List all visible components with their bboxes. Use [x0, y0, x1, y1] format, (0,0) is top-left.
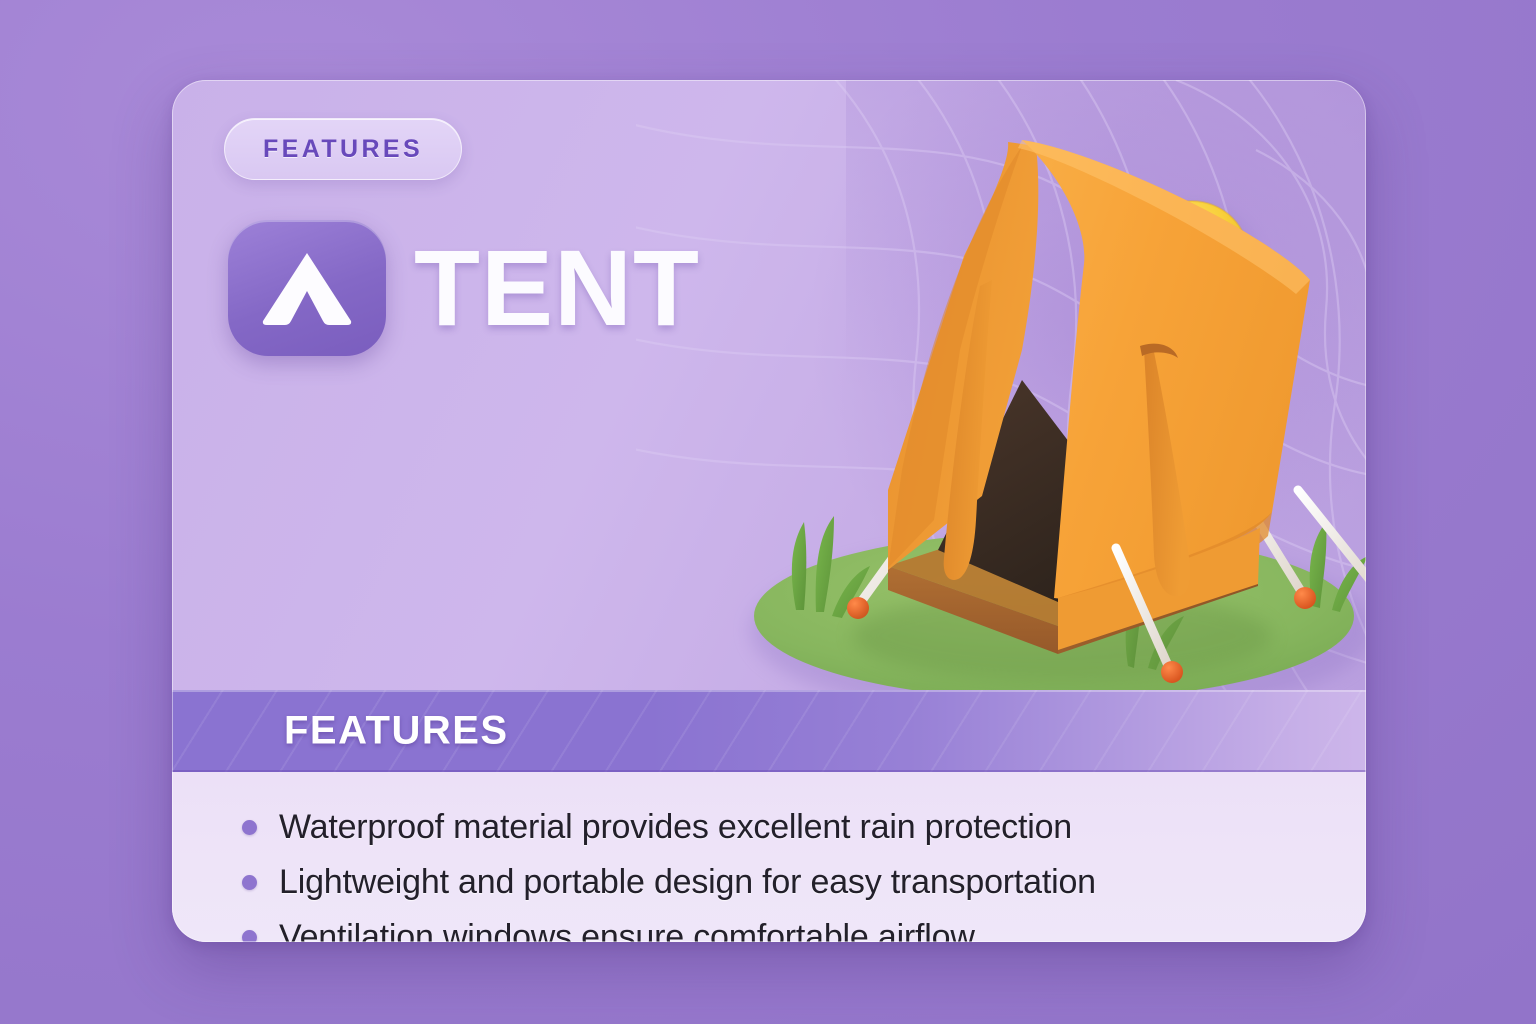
- page-title: TENT: [414, 234, 700, 342]
- list-item-label: Ventilation windows ensure comfortable a…: [279, 918, 975, 942]
- tent-chevron-icon: [228, 220, 386, 356]
- hero-section: FEATURES TENT: [172, 80, 1366, 690]
- list-item: Ventilation windows ensure comfortable a…: [242, 918, 1366, 942]
- features-section-heading: FEATURES: [284, 709, 509, 754]
- band-top-edge: [172, 690, 1366, 692]
- features-section-band: FEATURES: [172, 690, 1366, 772]
- features-badge[interactable]: FEATURES: [224, 118, 462, 180]
- features-badge-label: FEATURES: [263, 135, 423, 164]
- list-item: Waterproof material provides excellent r…: [242, 808, 1366, 847]
- camping-tent-illustration: [692, 80, 1366, 690]
- product-feature-card: FEATURES TENT: [172, 80, 1366, 942]
- bullet-icon: [242, 930, 257, 942]
- bullet-icon: [242, 875, 257, 890]
- bullet-icon: [242, 820, 257, 835]
- list-item-label: Waterproof material provides excellent r…: [279, 808, 1072, 847]
- title-row: TENT: [228, 220, 700, 356]
- list-item: Lightweight and portable design for easy…: [242, 863, 1366, 902]
- features-list: Waterproof material provides excellent r…: [172, 772, 1366, 942]
- list-item-label: Lightweight and portable design for easy…: [279, 863, 1096, 902]
